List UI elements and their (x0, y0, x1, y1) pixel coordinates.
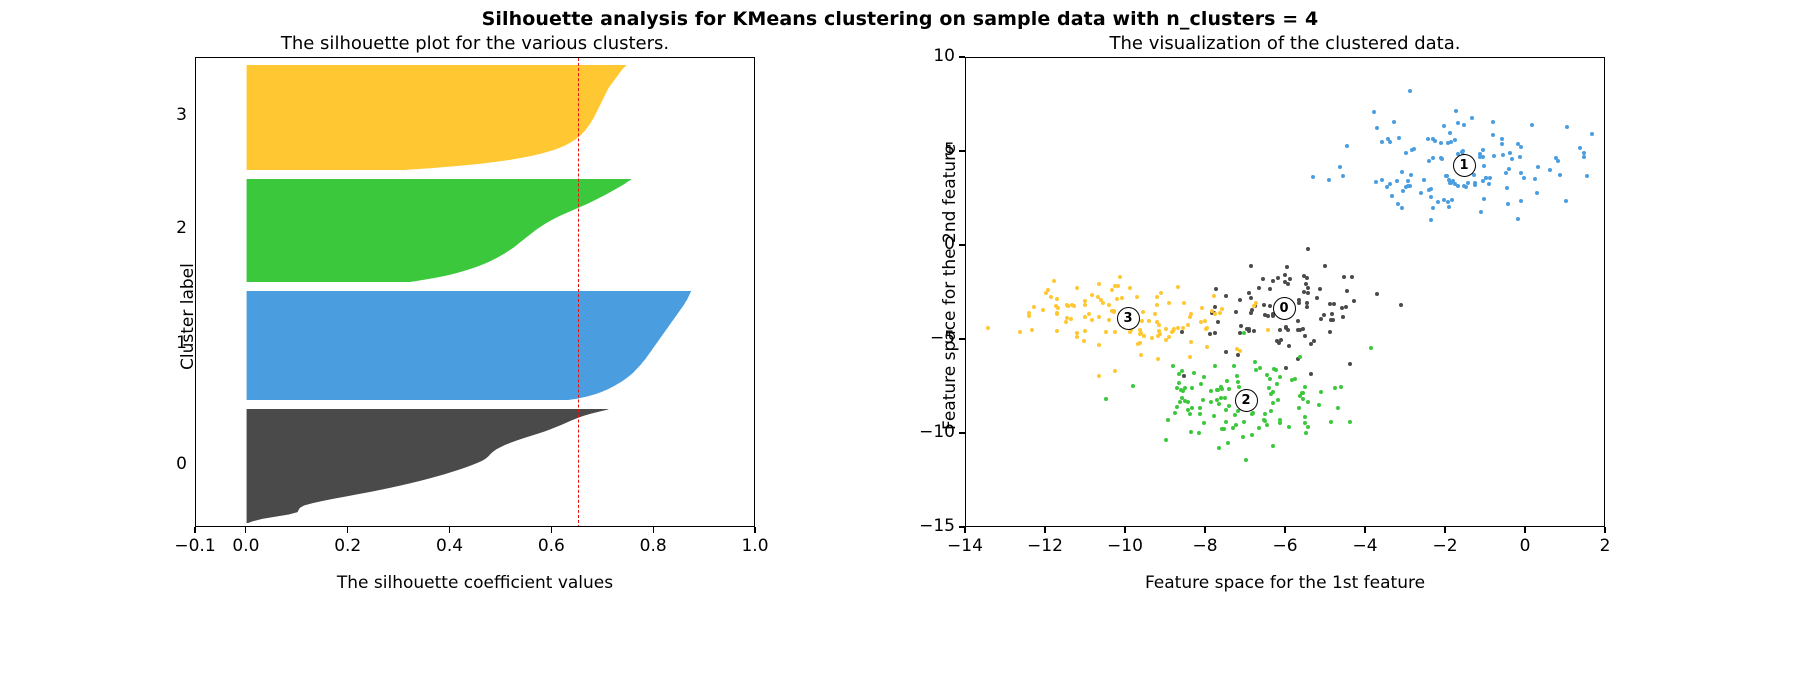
scatter-xtick-3 (1204, 527, 1205, 533)
scatter-point (1352, 299, 1356, 303)
scatter-point (1242, 331, 1246, 335)
silhouette-xtick-label-4: 0.6 (517, 536, 585, 556)
silhouette-band-cluster-3 (196, 65, 755, 170)
scatter-point (1032, 305, 1036, 309)
scatter-point (1178, 400, 1182, 404)
scatter-point (1429, 195, 1433, 199)
scatter-point (1083, 329, 1087, 333)
scatter-point (1198, 406, 1202, 410)
scatter-point (1436, 200, 1440, 204)
scatter-point (1341, 174, 1345, 178)
silhouette-axes (195, 57, 755, 527)
scatter-point (1408, 184, 1412, 188)
scatter-point (1426, 137, 1430, 141)
scatter-point (1208, 332, 1212, 336)
scatter-point (1268, 287, 1272, 291)
scatter-point (1336, 406, 1340, 410)
scatter-xtick-5 (1364, 527, 1365, 533)
scatter-point (1166, 418, 1170, 422)
scatter-point (1400, 170, 1404, 174)
silhouette-ytick-label-2: 2 (169, 218, 187, 238)
scatter-point (1536, 165, 1540, 169)
scatter-xtick-8 (1604, 527, 1605, 533)
scatter-point (1275, 339, 1279, 343)
silhouette-xtick-5 (653, 527, 654, 533)
scatter-point (1139, 353, 1143, 357)
scatter-point (1215, 388, 1219, 392)
scatter-point (1419, 191, 1423, 195)
scatter-point (1558, 173, 1562, 177)
scatter-point (1386, 137, 1390, 141)
scatter-point (1582, 155, 1586, 159)
scatter-point (1155, 303, 1159, 307)
scatter-point (1268, 377, 1272, 381)
scatter-point (1380, 140, 1384, 144)
scatter-point (1306, 291, 1310, 295)
scatter-point (1276, 398, 1280, 402)
scatter-point (1278, 421, 1282, 425)
scatter-point (1456, 121, 1460, 125)
cluster-center-marker-1: 1 (1453, 154, 1476, 177)
scatter-point (1201, 398, 1205, 402)
scatter-point (1318, 287, 1322, 291)
scatter-point (1309, 372, 1313, 376)
scatter-point (1484, 176, 1488, 180)
scatter-point (1271, 390, 1275, 394)
scatter-point (1442, 124, 1446, 128)
scatter-point (1329, 420, 1333, 424)
scatter-point (1473, 183, 1477, 187)
scatter-point (1330, 312, 1334, 316)
scatter-point (1250, 433, 1254, 437)
scatter-point (1298, 355, 1302, 359)
scatter-point (1175, 405, 1179, 409)
scatter-point (1177, 372, 1181, 376)
scatter-point (1164, 338, 1168, 342)
scatter-point (1044, 291, 1048, 295)
cluster-center-label: 3 (1123, 312, 1132, 325)
scatter-point (1189, 430, 1193, 434)
silhouette-plot-title: The silhouette plot for the various clus… (195, 33, 755, 54)
scatter-point (1578, 146, 1582, 150)
cluster-center-label: 2 (1241, 394, 1250, 407)
scatter-point (1104, 397, 1108, 401)
scatter-point (1271, 401, 1275, 405)
scatter-point (1504, 171, 1508, 175)
scatter-point (1113, 330, 1117, 334)
silhouette-xtick-6 (754, 527, 755, 533)
scatter-point (1375, 126, 1379, 130)
scatter-point (1338, 165, 1342, 169)
scatter-point (1279, 338, 1283, 342)
average-silhouette-threshold-line (578, 58, 579, 527)
scatter-point (1410, 148, 1414, 152)
scatter-point (1332, 302, 1336, 306)
scatter-point (1482, 197, 1486, 201)
scatter-point (1470, 116, 1474, 120)
scatter-point (1306, 286, 1310, 290)
scatter-point (1116, 284, 1120, 288)
scatter-point (1104, 330, 1108, 334)
scatter-point (1234, 423, 1238, 427)
scatter-point (1507, 167, 1511, 171)
scatter-point (1283, 273, 1287, 277)
scatter-point (1395, 179, 1399, 183)
scatter-point (1565, 125, 1569, 129)
scatter-point (1190, 386, 1194, 390)
scatter-point (1278, 328, 1282, 332)
scatter-point (1041, 308, 1045, 312)
scatter-point (1374, 180, 1378, 184)
scatter-xtick-7 (1524, 527, 1525, 533)
scatter-point (1219, 385, 1223, 389)
scatter-point (1348, 420, 1352, 424)
scatter-point (1287, 425, 1291, 429)
silhouette-band-cluster-1 (196, 291, 755, 401)
scatter-xtick-label-0: −14 (931, 536, 999, 556)
scatter-point (1209, 400, 1213, 404)
scatter-point (1209, 389, 1213, 393)
scatter-point (1205, 345, 1209, 349)
scatter-point (1090, 293, 1094, 297)
scatter-ytick-2 (959, 338, 965, 339)
scatter-point (1177, 381, 1181, 385)
scatter-point (1322, 313, 1326, 317)
scatter-point (1344, 305, 1348, 309)
scatter-point (1312, 339, 1316, 343)
scatter-point (1487, 182, 1491, 186)
scatter-point (1404, 151, 1408, 155)
scatter-point (1189, 312, 1193, 316)
scatter-point (1215, 398, 1219, 402)
scatter-point (1342, 275, 1346, 279)
scatter-point (1176, 285, 1180, 289)
scatter-point (1214, 287, 1218, 291)
scatter-point (1236, 380, 1240, 384)
scatter-point (1101, 301, 1105, 305)
scatter-point (1131, 384, 1135, 388)
scatter-point (1462, 184, 1466, 188)
scatter-point (1311, 175, 1315, 179)
scatter-point (1055, 329, 1059, 333)
scatter-point (1141, 310, 1145, 314)
scatter-point (1433, 139, 1437, 143)
silhouette-xtick-3 (449, 527, 450, 533)
scatter-point (1224, 294, 1228, 298)
scatter-point (1269, 409, 1273, 413)
scatter-point (1069, 317, 1073, 321)
scatter-point (1482, 164, 1486, 168)
scatter-point (1328, 330, 1332, 334)
scatter-point (1431, 206, 1435, 210)
scatter-point (1225, 379, 1229, 383)
scatter-point (1327, 178, 1331, 182)
scatter-point (1075, 286, 1079, 290)
scatter-point (1466, 181, 1470, 185)
scatter-point (1380, 178, 1384, 182)
scatter-point (1263, 313, 1267, 317)
scatter-point (1097, 282, 1101, 286)
silhouette-xtick-label-5: 0.8 (619, 536, 687, 556)
cluster-center-marker-2: 2 (1235, 389, 1258, 412)
scatter-point (1112, 310, 1116, 314)
silhouette-xtick-label-2: 0.2 (314, 536, 382, 556)
scatter-point (1175, 386, 1179, 390)
scatter-point (1293, 377, 1297, 381)
scatter-point (1097, 315, 1101, 319)
scatter-point (1249, 311, 1253, 315)
scatter-point (1491, 120, 1495, 124)
scatter-xtick-label-2: −10 (1091, 536, 1159, 556)
scatter-point (1284, 366, 1288, 370)
scatter-point (1171, 364, 1175, 368)
scatter-point (1519, 145, 1523, 149)
scatter-point (1150, 336, 1154, 340)
scatter-point (1083, 303, 1087, 307)
scatter-point (1167, 335, 1171, 339)
scatter-plot-title: The visualization of the clustered data. (965, 33, 1605, 54)
figure-canvas: Silhouette analysis for KMeans clusterin… (0, 0, 1800, 700)
scatter-xtick-label-5: −4 (1331, 536, 1399, 556)
scatter-point (1052, 279, 1056, 283)
scatter-point (1350, 275, 1354, 279)
scatter-point (1186, 323, 1190, 327)
figure-suptitle: Silhouette analysis for KMeans clusterin… (0, 8, 1800, 30)
scatter-point (1339, 385, 1343, 389)
silhouette-xtick-label-3: 0.4 (416, 536, 484, 556)
cluster-center-marker-0: 0 (1273, 297, 1296, 320)
silhouette-ytick-label-3: 3 (169, 105, 187, 125)
cluster-center-marker-3: 3 (1117, 307, 1140, 330)
scatter-point (1164, 327, 1168, 331)
scatter-point (1392, 120, 1396, 124)
scatter-point (1250, 412, 1254, 416)
scatter-point (1233, 413, 1237, 417)
scatter-point (1135, 295, 1139, 299)
scatter-point (1242, 420, 1246, 424)
scatter-point (1118, 275, 1122, 279)
scatter-point (1189, 340, 1193, 344)
scatter-point (1431, 156, 1435, 160)
scatter-point (1530, 123, 1534, 127)
scatter-point (1056, 306, 1060, 310)
scatter-point (1305, 276, 1309, 280)
scatter-xtick-2 (1124, 527, 1125, 533)
scatter-point (1232, 364, 1236, 368)
scatter-point (1224, 408, 1228, 412)
scatter-ytick-label-0: −15 (899, 516, 955, 536)
scatter-point (1213, 331, 1217, 335)
scatter-xtick-1 (1044, 527, 1045, 533)
scatter-point (1203, 319, 1207, 323)
scatter-point (1197, 431, 1201, 435)
scatter-point (1142, 334, 1146, 338)
scatter-point (1317, 403, 1321, 407)
scatter-point (1278, 375, 1282, 379)
scatter-point (1182, 301, 1186, 305)
scatter-point (1075, 335, 1079, 339)
scatter-point (1147, 319, 1151, 323)
scatter-point (1202, 375, 1206, 379)
scatter-xtick-label-3: −8 (1171, 536, 1239, 556)
silhouette-band-cluster-2 (196, 179, 755, 282)
scatter-point (1226, 441, 1230, 445)
scatter-point (1257, 426, 1261, 430)
scatter-point (1064, 320, 1068, 324)
scatter-point (1110, 288, 1114, 292)
scatter-point (1097, 343, 1101, 347)
scatter-point (1397, 136, 1401, 140)
scatter-point (1331, 318, 1335, 322)
scatter-point (1519, 199, 1523, 203)
scatter-point (1285, 265, 1289, 269)
scatter-point (1018, 330, 1022, 334)
cluster-center-label: 0 (1279, 302, 1288, 315)
silhouette-xtick-1 (245, 527, 246, 533)
scatter-point (1488, 176, 1492, 180)
scatter-point (1306, 425, 1310, 429)
scatter-point (1176, 326, 1180, 330)
scatter-point (1115, 297, 1119, 301)
scatter-point (1049, 295, 1053, 299)
scatter-point (1454, 109, 1458, 113)
scatter-point (1304, 431, 1308, 435)
scatter-point (1409, 173, 1413, 177)
scatter-point (1265, 423, 1269, 427)
scatter-point (1217, 402, 1221, 406)
scatter-ytick-label-4: 5 (899, 140, 955, 160)
scatter-point (1401, 189, 1405, 193)
scatter-point (986, 326, 990, 330)
scatter-point (1301, 397, 1305, 401)
scatter-point (1556, 159, 1560, 163)
scatter-point (1369, 346, 1373, 350)
scatter-point (1429, 187, 1433, 191)
scatter-point (1070, 303, 1074, 307)
scatter-point (1186, 400, 1190, 404)
scatter-point (1296, 319, 1300, 323)
scatter-point (1301, 327, 1305, 331)
scatter-point (1408, 89, 1412, 93)
scatter-point (1519, 171, 1523, 175)
scatter-point (1167, 301, 1171, 305)
scatter-point (1128, 330, 1132, 334)
scatter-point (1199, 382, 1203, 386)
scatter-xtick-6 (1444, 527, 1445, 533)
scatter-point (1315, 296, 1319, 300)
scatter-point (1239, 324, 1243, 328)
scatter-point (1372, 110, 1376, 114)
scatter-point (1213, 312, 1217, 316)
scatter-axes: 0123 (965, 57, 1605, 527)
scatter-point (1199, 320, 1203, 324)
scatter-point (1481, 148, 1485, 152)
scatter-point (1429, 218, 1433, 222)
scatter-point (1241, 435, 1245, 439)
scatter-point (1404, 185, 1408, 189)
scatter-point (1375, 292, 1379, 296)
scatter-point (1188, 412, 1192, 416)
scatter-point (1156, 334, 1160, 338)
scatter-point (1505, 186, 1509, 190)
scatter-point (1138, 341, 1142, 345)
scatter-point (1153, 312, 1157, 316)
scatter-point (1107, 303, 1111, 307)
scatter-point (1235, 374, 1239, 378)
scatter-point (1288, 277, 1292, 281)
scatter-point (1082, 339, 1086, 343)
scatter-point (1275, 382, 1279, 386)
scatter-point (1422, 178, 1426, 182)
scatter-point (1247, 329, 1251, 333)
scatter-point (1213, 364, 1217, 368)
scatter-point (1257, 286, 1261, 290)
scatter-point (1333, 386, 1337, 390)
scatter-point (1234, 310, 1238, 314)
scatter-point (1202, 421, 1206, 425)
scatter-xtick-0 (964, 527, 965, 533)
scatter-point (1479, 210, 1483, 214)
scatter-point (1508, 151, 1512, 155)
scatter-ytick-0 (959, 526, 965, 527)
scatter-point (1303, 421, 1307, 425)
scatter-point (1107, 318, 1111, 322)
scatter-point (1216, 320, 1220, 324)
scatter-ytick-label-1: −10 (899, 422, 955, 442)
scatter-point (1181, 326, 1185, 330)
scatter-point (1155, 295, 1159, 299)
scatter-point (1268, 304, 1272, 308)
scatter-point (1345, 289, 1349, 293)
silhouette-ytick-label-1: 1 (169, 333, 187, 353)
scatter-point (1440, 157, 1444, 161)
scatter-point (1263, 412, 1267, 416)
scatter-point (1390, 194, 1394, 198)
scatter-point (1238, 349, 1242, 353)
scatter-point (1302, 290, 1306, 294)
scatter-point (1218, 311, 1222, 315)
scatter-point (1564, 199, 1568, 203)
scatter-point (1223, 396, 1227, 400)
scatter-ytick-1 (959, 432, 965, 433)
scatter-xlabel: Feature space for the 1st feature (965, 573, 1605, 593)
scatter-point (1180, 369, 1184, 373)
scatter-xtick-4 (1284, 527, 1285, 533)
scatter-point (1237, 385, 1241, 389)
scatter-point (1522, 176, 1526, 180)
scatter-point (1231, 426, 1235, 430)
scatter-point (1217, 446, 1221, 450)
scatter-point (1510, 157, 1514, 161)
scatter-point (1120, 296, 1124, 300)
scatter-point (1140, 319, 1144, 323)
scatter-point (1267, 386, 1271, 390)
scatter-point (1090, 318, 1094, 322)
scatter-point (1030, 328, 1034, 332)
scatter-point (1212, 294, 1216, 298)
scatter-point (1210, 309, 1214, 313)
scatter-point (1238, 298, 1242, 302)
scatter-point (1306, 400, 1310, 404)
scatter-point (1323, 264, 1327, 268)
scatter-point (1249, 264, 1253, 268)
scatter-point (1265, 373, 1269, 377)
scatter-point (1224, 350, 1228, 354)
scatter-point (1590, 132, 1594, 136)
scatter-point (1227, 404, 1231, 408)
scatter-point (1087, 312, 1091, 316)
scatter-point (1128, 286, 1132, 290)
